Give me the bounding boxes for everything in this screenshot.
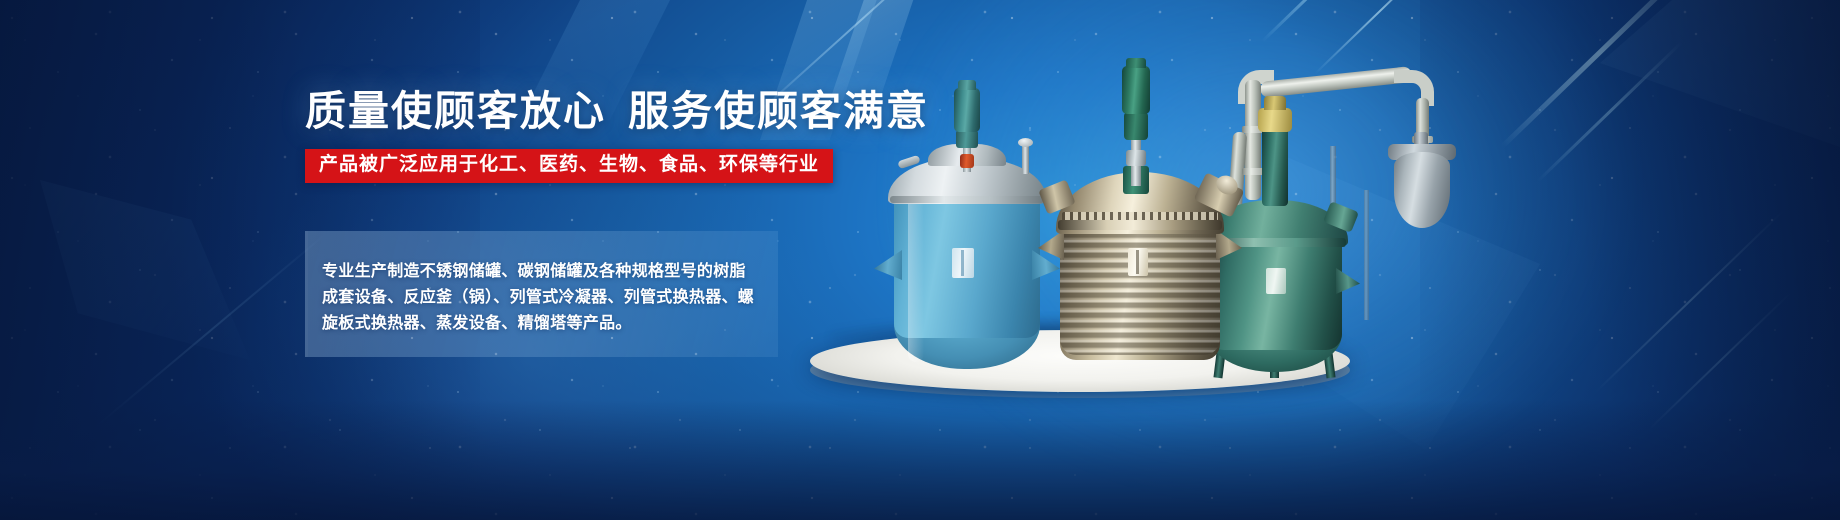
blue-kettle-valve-knob (1018, 138, 1033, 147)
headline-phrase-two: 服务使顾客满意 (628, 88, 929, 134)
blue-kettle-lug-left (874, 250, 902, 280)
description-panel: 专业生产制造不锈钢储罐、碳钢储罐及各种规格型号的树脂成套设备、反应釜（锅）、列管… (305, 231, 778, 357)
tube-condenser (1394, 152, 1450, 228)
steel-reactor-motor-cap (1126, 58, 1146, 68)
description-text: 专业生产制造不锈钢储罐、碳钢储罐及各种规格型号的树脂成套设备、反应釜（锅）、列管… (322, 259, 760, 337)
headline-phrase-one: 质量使顾客放心 (305, 88, 606, 134)
blue-kettle-coupling (960, 154, 974, 168)
background-bottom-band (0, 400, 1840, 520)
stainless-steel-coiled-reactor (1040, 80, 1240, 370)
blue-kettle-gearbox (956, 130, 978, 148)
blue-kettle-valve-stem (1022, 144, 1029, 174)
green-kettle-brass-cap-top (1264, 96, 1286, 110)
blue-kettle-highlight (908, 192, 924, 362)
green-kettle-lug-right (1336, 268, 1360, 294)
application-ribbon: 产品被广泛应用于化工、医药、生物、食品、环保等行业 (305, 149, 833, 183)
steel-reactor-lug-left (1038, 230, 1064, 260)
support-column-two (1364, 190, 1369, 320)
banner-headline: 质量使顾客放心服务使顾客满意 (305, 88, 825, 135)
steel-reactor-gearbox (1124, 112, 1148, 140)
steel-reactor-sight-glass (1128, 248, 1148, 276)
green-kettle-sight-glass (1266, 268, 1286, 294)
blue-kettle-sight-glass (952, 248, 974, 278)
blue-kettle-flange-ring (890, 196, 1044, 203)
steel-reactor-flange (1058, 220, 1222, 230)
steel-reactor-coupling (1126, 150, 1146, 166)
green-kettle-drive-column (1262, 128, 1288, 206)
banner-text-block: 质量使顾客放心服务使顾客满意 产品被广泛应用于化工、医药、生物、食品、环保等行业… (305, 88, 825, 357)
green-kettle-brass-cap (1258, 108, 1292, 132)
blue-reaction-kettle (882, 100, 1052, 360)
blue-kettle-motor-cap (958, 80, 976, 90)
promotional-banner: 质量使顾客放心服务使顾客满意 产品被广泛应用于化工、医药、生物、食品、环保等行业… (0, 0, 1840, 520)
steel-reactor-lug-right (1216, 230, 1242, 260)
blue-kettle-motor (954, 88, 980, 132)
steel-reactor-motor (1122, 66, 1150, 114)
overhead-pipe (1260, 66, 1413, 98)
